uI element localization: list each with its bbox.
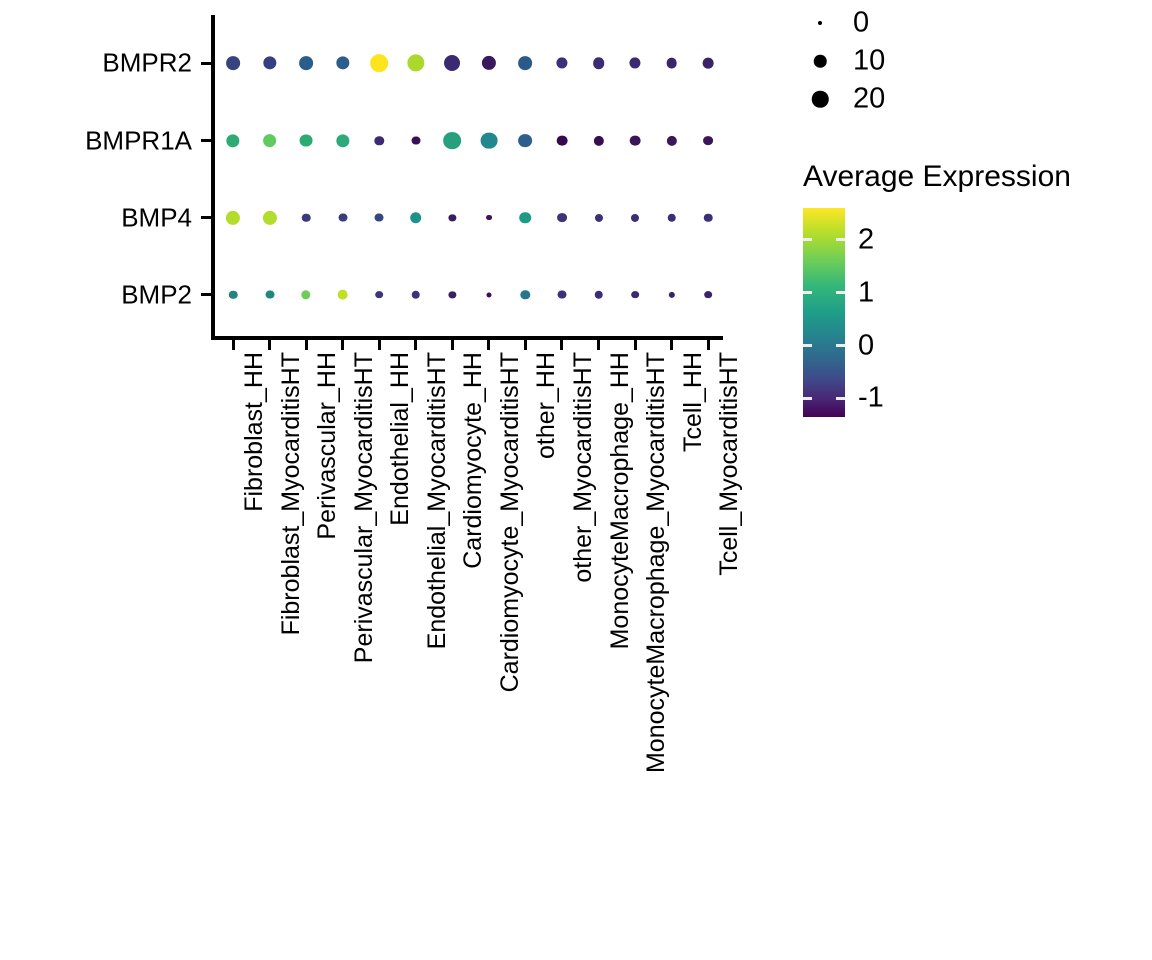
dot-bmpr2-monocytemacrophage_myocarditisht [629, 57, 640, 68]
y-axis-tick [201, 216, 211, 219]
x-axis-tick [560, 340, 563, 350]
dot-bmpr2-fibroblast_myocarditisht [263, 56, 276, 69]
x-axis-label-text: MonocyteMacrophage_HH [608, 352, 633, 649]
colorbar-tick [836, 238, 845, 241]
dot-bmpr1a-monocytemacrophage_myocarditisht [630, 135, 641, 146]
size-legend-row: 10 [800, 42, 1000, 80]
color-legend-title: Average Expression [803, 160, 1071, 194]
dot-bmp4-perivascular_myocarditisht [338, 213, 347, 222]
dot-bmp4-other_hh [520, 212, 532, 224]
x-axis-tick [707, 340, 710, 350]
x-axis-label-text: other_MyocarditisHT [571, 352, 596, 583]
dot-bmpr2-tcell_hh [666, 58, 677, 69]
colorbar-tick [803, 397, 812, 400]
dot-bmp2-tcell_hh [668, 291, 674, 297]
dot-bmpr1a-other_hh [519, 134, 533, 148]
dot-bmp4-tcell_myocarditisht [704, 213, 713, 222]
dot-bmp4-other_myocarditisht [557, 213, 567, 223]
dot-bmp2-cardiomyocyte_hh [449, 291, 456, 298]
dot-bmpr1a-fibroblast_myocarditisht [263, 134, 277, 148]
dot-bmp2-perivascular_myocarditisht [337, 289, 348, 300]
size-legend-label: 0 [853, 7, 869, 40]
dot-bmpr2-cardiomyocyte_hh [444, 55, 460, 71]
dot-bmpr1a-other_myocarditisht [557, 135, 568, 146]
x-axis-label-text: MonocyteMacrophage_MyocarditisHT [644, 352, 669, 773]
colorbar-tick [836, 397, 845, 400]
dot-bmp4-fibroblast_hh [226, 210, 240, 224]
dotplot-figure: BMPR2BMPR1ABMP4BMP2 Fibroblast_HHFibrobl… [0, 0, 1152, 960]
dot-bmp4-monocytemacrophage_myocarditisht [631, 213, 639, 221]
dot-bmp2-tcell_myocarditisht [704, 291, 712, 299]
size-legend-row: 20 [800, 80, 1000, 118]
dot-bmpr1a-fibroblast_hh [226, 134, 239, 147]
dot-bmp2-fibroblast_hh [229, 290, 238, 299]
size-legend-dot [814, 55, 827, 68]
x-axis-label-text: Perivascular_HH [315, 352, 340, 540]
dot-bmp2-fibroblast_myocarditisht [265, 290, 274, 299]
y-axis-tick [201, 62, 211, 65]
x-axis-label-text: Cardiomyocyte_HH [461, 352, 486, 569]
dot-bmp4-perivascular_hh [302, 213, 311, 222]
x-axis-label-text: Fibroblast_MyocarditisHT [279, 352, 304, 635]
x-axis-tick [414, 340, 417, 350]
x-axis-tick [451, 340, 454, 350]
size-legend-label: 10 [853, 45, 885, 78]
dot-bmpr1a-perivascular_myocarditisht [336, 134, 349, 147]
dot-bmpr2-perivascular_hh [299, 56, 313, 70]
x-axis-label-text: Endothelial_HH [388, 352, 413, 526]
colorbar-tick [836, 344, 845, 347]
dot-bmpr2-other_myocarditisht [556, 57, 567, 68]
colorbar-tick [803, 238, 812, 241]
size-legend: 01020 [800, 4, 1000, 118]
dot-bmpr1a-monocytemacrophage_hh [593, 135, 603, 145]
y-axis-label-bmp2: BMP2 [0, 279, 192, 310]
x-axis-label-text: Endothelial_MyocarditisHT [425, 352, 450, 649]
x-axis-tick [670, 340, 673, 350]
y-axis-tick [201, 139, 211, 142]
x-axis-tick [232, 340, 235, 350]
size-legend-row: 0 [800, 4, 1000, 42]
dot-bmp4-monocytemacrophage_hh [594, 213, 602, 221]
x-axis-label-text: Tcell_MyocarditisHT [717, 352, 742, 576]
y-axis-label-bmpr1a: BMPR1A [0, 125, 192, 156]
dot-bmpr1a-tcell_hh [666, 135, 676, 145]
dot-bmpr1a-tcell_myocarditisht [703, 136, 713, 146]
dot-bmpr2-fibroblast_hh [226, 56, 240, 70]
x-axis-label-text: Perivascular_MyocarditisHT [352, 352, 377, 663]
dot-bmp2-monocytemacrophage_hh [594, 290, 603, 299]
colorbar-label: 0 [858, 329, 874, 362]
dot-bmpr2-endothelial_myocarditisht [407, 54, 424, 71]
x-axis-tick [305, 340, 308, 350]
colorbar-label: 1 [858, 276, 874, 309]
dot-bmpr2-endothelial_hh [370, 54, 388, 72]
dot-bmp2-other_hh [521, 290, 530, 299]
colorbar-tick [803, 344, 812, 347]
dot-bmpr1a-endothelial_hh [374, 136, 383, 145]
dot-bmpr1a-perivascular_hh [300, 134, 313, 147]
colorbar-tick [803, 291, 812, 294]
x-axis-label-text: Tcell_HH [681, 352, 706, 452]
x-axis-tick [597, 340, 600, 350]
colorbar-label: -1 [858, 382, 884, 415]
y-axis-label-bmp4: BMP4 [0, 202, 192, 233]
dot-bmp2-cardiomyocyte_myocarditisht [486, 292, 491, 297]
dot-bmp4-cardiomyocyte_myocarditisht [486, 215, 492, 221]
dot-bmpr2-cardiomyocyte_myocarditisht [482, 56, 496, 70]
dot-bmp4-cardiomyocyte_hh [449, 214, 456, 221]
dot-bmpr2-other_hh [519, 56, 533, 70]
dot-bmpr2-tcell_myocarditisht [703, 58, 714, 69]
y-axis-label-bmpr2: BMPR2 [0, 48, 192, 79]
dot-bmpr1a-cardiomyocyte_hh [443, 132, 461, 150]
x-axis-label-text: other_HH [534, 352, 559, 459]
x-axis-line [211, 336, 723, 340]
size-legend-dot [812, 91, 829, 108]
y-axis-tick [201, 293, 211, 296]
size-legend-label: 20 [853, 83, 885, 116]
plot-panel [211, 15, 721, 336]
x-axis-label-text: Cardiomyocyte_MyocarditisHT [498, 352, 523, 692]
x-axis-tick [487, 340, 490, 350]
dot-bmpr2-monocytemacrophage_hh [593, 57, 605, 69]
x-axis-tick [378, 340, 381, 350]
dot-bmp2-other_myocarditisht [557, 290, 566, 299]
x-axis-tick [634, 340, 637, 350]
dot-bmp4-endothelial_myocarditisht [410, 212, 422, 224]
x-axis-tick [341, 340, 344, 350]
x-axis-label-text: Fibroblast_HH [242, 352, 267, 512]
dot-bmp4-tcell_hh [667, 213, 676, 222]
dot-bmp2-endothelial_myocarditisht [411, 290, 420, 299]
x-axis-tick [268, 340, 271, 350]
x-axis-tick [524, 340, 527, 350]
dot-bmpr2-perivascular_myocarditisht [336, 56, 349, 69]
dot-bmp2-monocytemacrophage_myocarditisht [631, 291, 639, 299]
dot-bmp2-endothelial_hh [375, 291, 383, 299]
dot-bmpr1a-endothelial_myocarditisht [411, 136, 420, 145]
dot-bmp4-fibroblast_myocarditisht [262, 210, 276, 224]
dot-bmp2-perivascular_hh [301, 290, 310, 299]
colorbar-label: 2 [858, 223, 874, 256]
colorbar-tick [836, 291, 845, 294]
size-legend-dot [818, 21, 822, 25]
dot-bmp4-endothelial_hh [375, 213, 384, 222]
dot-bmpr1a-cardiomyocyte_myocarditisht [480, 132, 497, 149]
